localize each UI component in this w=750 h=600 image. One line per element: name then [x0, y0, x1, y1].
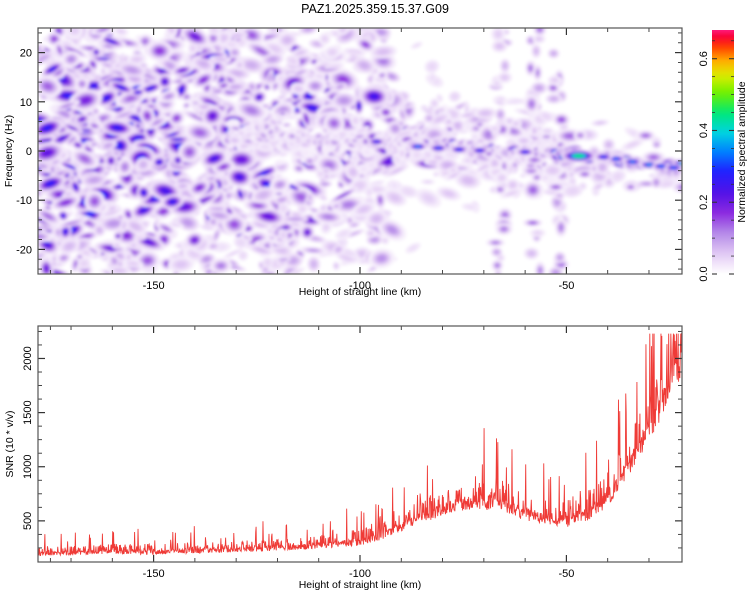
- spectrogram-xtick-label: -50: [558, 280, 574, 292]
- figure-title: PAZ1.2025.359.15.37.G09: [0, 2, 750, 16]
- colorbar-tick-label: 0.6: [698, 51, 710, 66]
- spectrogram-panel: -150-100-50-20-1001020 Height of straigh…: [3, 18, 696, 298]
- snr-xtick-label: -50: [558, 568, 574, 580]
- snr-ytick-label: 1500: [22, 400, 34, 424]
- snr-background: [38, 326, 682, 562]
- spectrogram-xtick-label: -150: [143, 280, 165, 292]
- snr-ytick-label: 2000: [22, 346, 34, 370]
- spectrogram-ytick-label: -10: [16, 195, 32, 207]
- plot-canvas: -150-100-50-20-1001020 Height of straigh…: [0, 0, 750, 600]
- spectrogram-xaxis-label: Height of straight line (km): [299, 286, 422, 298]
- snr-yaxis-label: SNR (10 * v/v): [4, 410, 16, 477]
- snr-xaxis-label: Height of straight line (km): [299, 579, 422, 591]
- snr-ytick-label: 1000: [22, 454, 34, 478]
- colorbar-tick-label: 0.0: [698, 266, 710, 281]
- spectrogram-yaxis-label: Frequency (Hz): [3, 115, 15, 187]
- snr-panel: -150-100-50500100015002000 Height of str…: [4, 326, 682, 591]
- colorbar-tick-label: 0.4: [698, 123, 710, 138]
- colorbar: 0.00.20.40.6 Normalized spectral amplitu…: [698, 30, 748, 282]
- figure-root: PAZ1.2025.359.15.37.G09 -150-100-50-20-1…: [0, 0, 750, 600]
- snr-xtick-label: -150: [143, 568, 165, 580]
- spectrogram-ytick-label: 0: [26, 146, 32, 158]
- snr-ytick-label: 500: [22, 512, 34, 530]
- spectrogram-ytick-label: -20: [16, 244, 32, 256]
- colorbar-tick-labels: 0.00.20.40.6: [698, 51, 710, 282]
- colorbar-label: Normalized spectral amplitude: [736, 81, 748, 222]
- colorbar-tick-label: 0.2: [698, 195, 710, 210]
- colorbar-gradient: [712, 30, 734, 274]
- spectrogram-ytick-label: 10: [20, 97, 32, 109]
- spectrogram-ytick-label: 20: [20, 48, 32, 60]
